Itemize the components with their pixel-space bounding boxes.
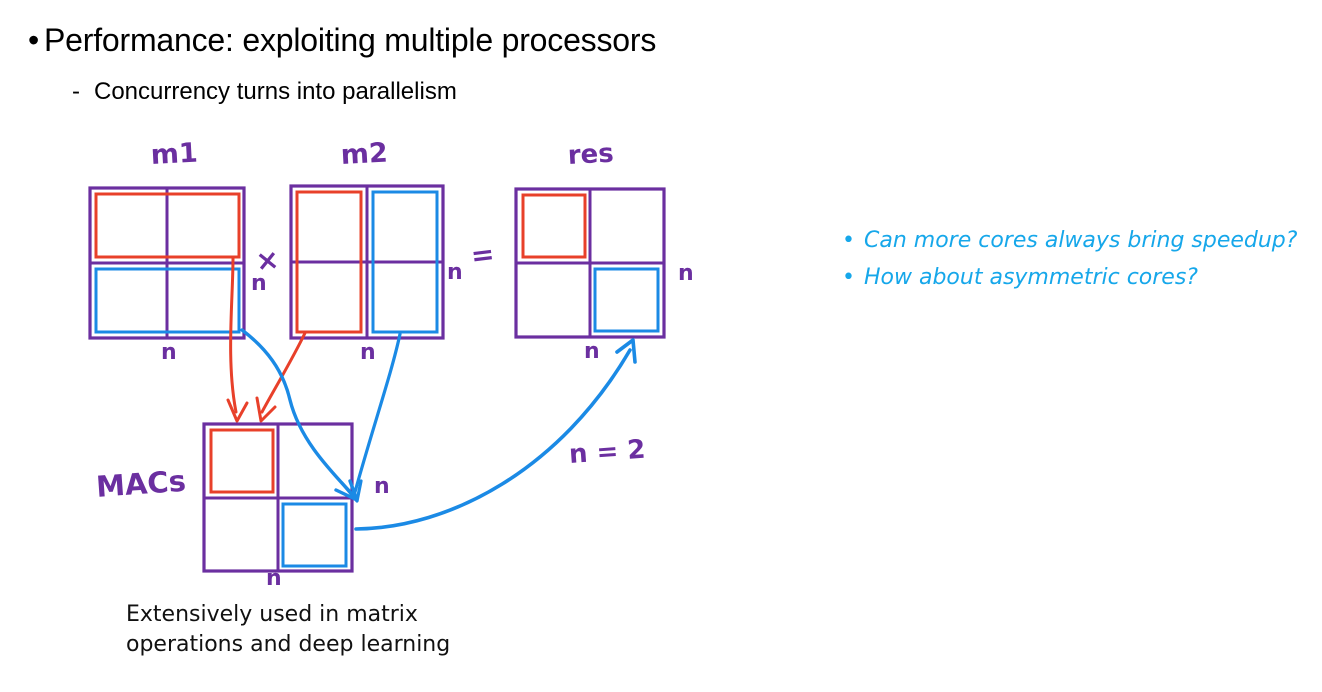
slide-title-text: Performance: exploiting multiple process… xyxy=(44,22,656,58)
matrix-label-macs: MACs xyxy=(95,464,187,504)
annotation-n-equals-2: n = 2 xyxy=(568,435,646,470)
matrix-macs xyxy=(204,424,352,571)
dimension-label-res-bottom: n xyxy=(584,339,600,364)
matrix-label-res: res xyxy=(567,139,614,171)
macs-cell-highlight-red xyxy=(211,430,273,492)
dimension-label-m1-bottom: n xyxy=(161,340,177,365)
dash-marker-icon: - xyxy=(72,78,94,106)
dimension-label-m2-bottom: n xyxy=(360,340,376,365)
slide-subbullet-text: Concurrency turns into parallelism xyxy=(94,78,457,105)
dimension-label-m2-right: n xyxy=(447,260,463,285)
diagram-caption: Extensively used in matrix operations an… xyxy=(126,600,450,659)
res-cell-highlight-red xyxy=(523,195,585,257)
slide-subbullet: -Concurrency turns into parallelism xyxy=(72,78,457,106)
arrow-m1-row-to-macs xyxy=(228,258,247,421)
caption-line-2: operations and deep learning xyxy=(126,630,450,660)
bullet-marker-icon: • xyxy=(28,22,44,59)
slide-title-bullet: •Performance: exploiting multiple proces… xyxy=(28,22,656,59)
list-item: • How about asymmetric cores? xyxy=(838,263,1308,292)
caption-line-1: Extensively used in matrix xyxy=(126,600,450,630)
dimension-label-macs-bottom: n xyxy=(266,566,282,591)
m1-row-highlight-red xyxy=(96,194,239,257)
dimension-label-m1-right: n xyxy=(251,271,267,296)
m2-col-highlight-red xyxy=(297,192,361,332)
arrow-m1-row-blue-to-macs xyxy=(242,330,357,500)
operator-equals: = xyxy=(469,237,496,273)
arrow-macs-to-res xyxy=(356,340,635,529)
questions-panel: • Can more cores always bring speedup? •… xyxy=(838,226,1308,300)
slide-canvas: •Performance: exploiting multiple proces… xyxy=(0,0,1322,692)
matrix-res xyxy=(516,189,664,337)
question-text: Can more cores always bring speedup? xyxy=(864,228,1297,253)
bullet-marker-icon: • xyxy=(842,226,855,255)
matrix-m1 xyxy=(90,188,244,338)
m1-row-highlight-blue xyxy=(96,269,239,332)
m2-col-highlight-blue xyxy=(373,192,437,332)
macs-cell-highlight-blue xyxy=(283,504,346,566)
matrix-label-m1: m1 xyxy=(150,138,198,171)
res-cell-highlight-blue xyxy=(595,269,658,331)
dimension-label-macs-right: n xyxy=(374,474,390,499)
question-text: How about asymmetric cores? xyxy=(864,265,1198,290)
matrix-label-m2: m2 xyxy=(340,138,388,171)
dimension-label-res-right: n xyxy=(678,261,694,286)
list-item: • Can more cores always bring speedup? xyxy=(838,226,1308,255)
bullet-marker-icon: • xyxy=(842,263,855,292)
arrow-m2-col-to-macs xyxy=(257,333,305,421)
matrix-m2 xyxy=(291,186,443,338)
questions-list: • Can more cores always bring speedup? •… xyxy=(838,226,1308,292)
